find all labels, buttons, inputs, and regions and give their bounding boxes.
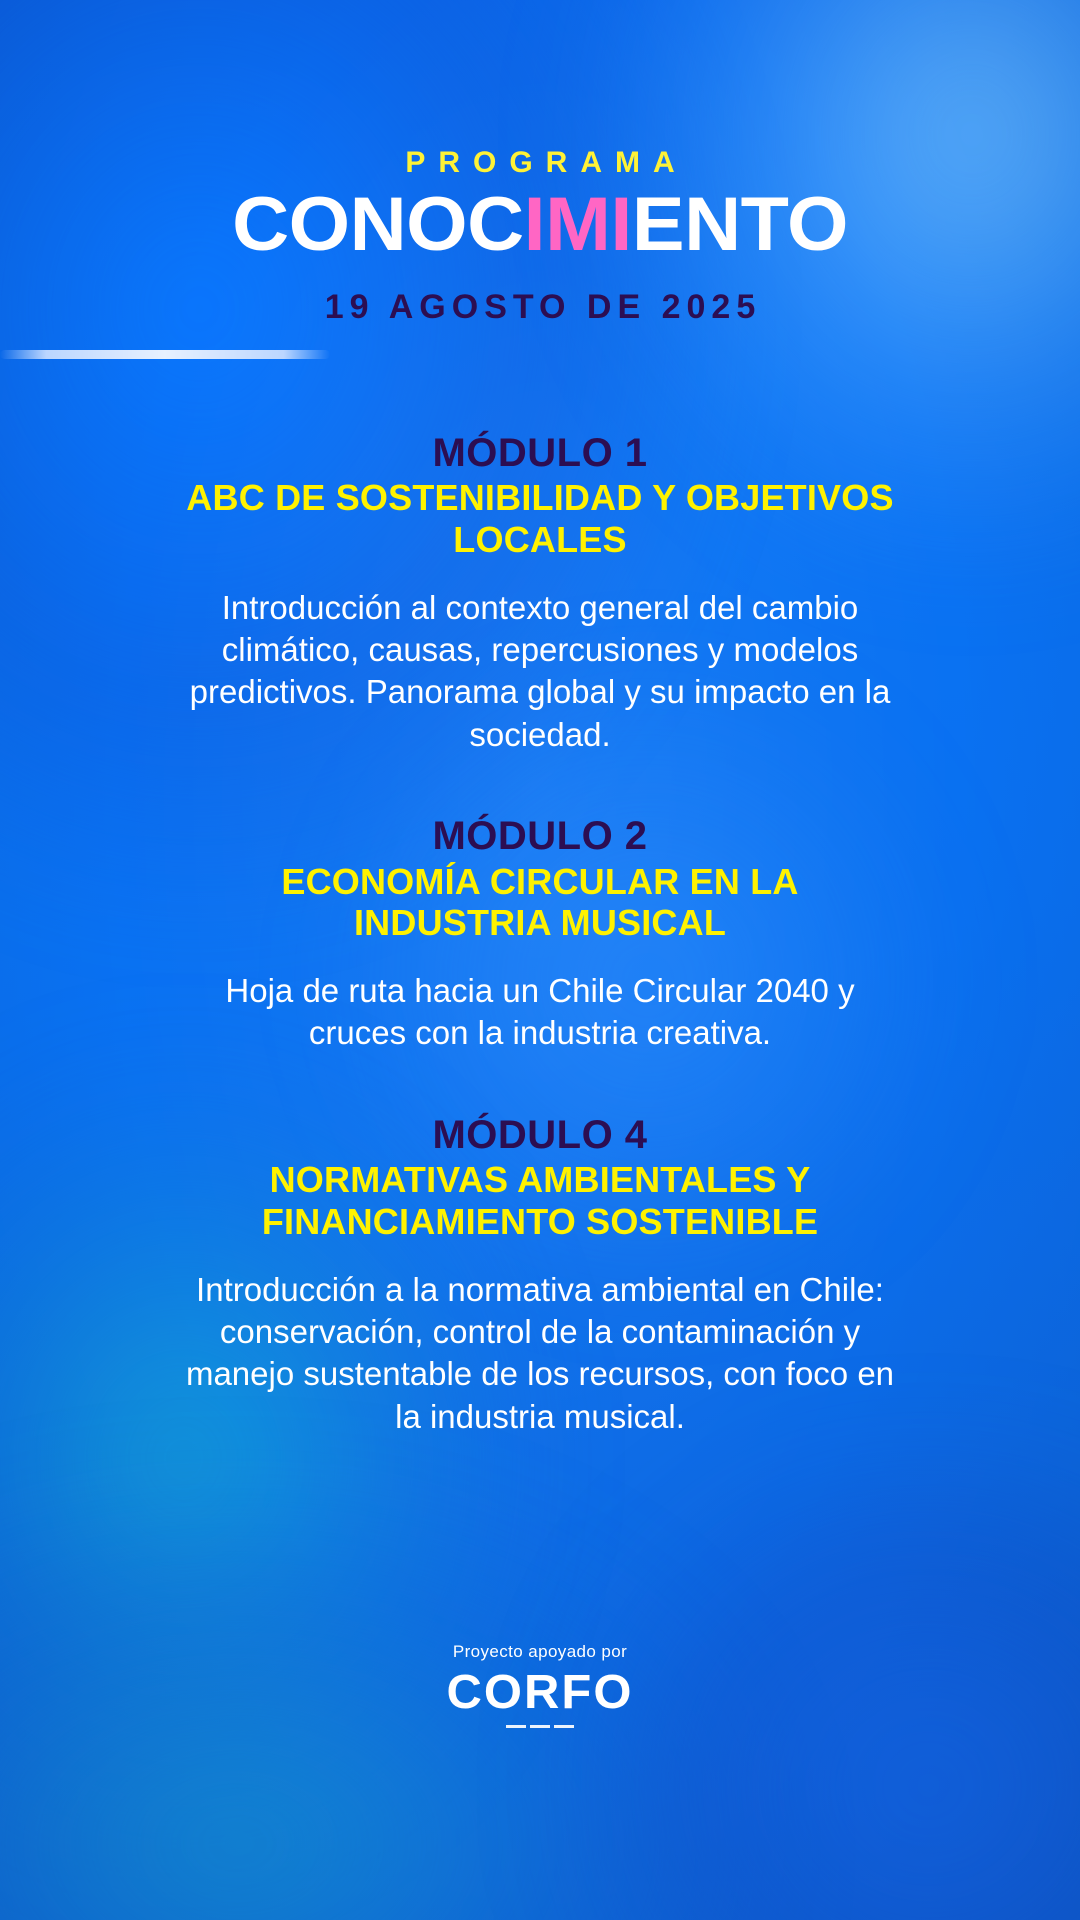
sponsor-note: Proyecto apoyado por bbox=[0, 1643, 1080, 1660]
event-date: 19 AGOSTO DE 2025 bbox=[0, 290, 1080, 324]
wordmark-segment-1: CONOC bbox=[232, 182, 524, 267]
module-title: ECONOMÍA CIRCULAR EN LA INDUSTRIA MUSICA… bbox=[160, 861, 920, 945]
poster-canvas: PROGRAMA CONOCIMIENTO 19 AGOSTO DE 2025 … bbox=[0, 0, 1080, 1920]
wordmark-segment-3: ENTO bbox=[632, 182, 848, 267]
program-kicker: PROGRAMA bbox=[0, 148, 1080, 178]
header-divider bbox=[0, 350, 330, 359]
module-item: MÓDULO 1 ABC DE SOSTENIBILIDAD Y OBJETIV… bbox=[160, 431, 920, 756]
module-description: Introducción a la normativa ambiental en… bbox=[160, 1269, 920, 1438]
poster-content: PROGRAMA CONOCIMIENTO 19 AGOSTO DE 2025 … bbox=[0, 0, 1080, 1920]
modules-list: MÓDULO 1 ABC DE SOSTENIBILIDAD Y OBJETIV… bbox=[0, 431, 1080, 1438]
module-description: Hoja de ruta hacia un Chile Circular 204… bbox=[160, 970, 920, 1054]
module-title: NORMATIVAS AMBIENTALES Y FINANCIAMIENTO … bbox=[160, 1159, 920, 1243]
module-title: ABC DE SOSTENIBILIDAD Y OBJETIVOS LOCALE… bbox=[160, 477, 920, 561]
poster-footer: Proyecto apoyado por CORFO bbox=[0, 1643, 1080, 1732]
corfo-logo: CORFO bbox=[0, 1669, 1080, 1717]
corfo-underline-icon bbox=[506, 1725, 574, 1732]
module-description: Introducción al contexto general del cam… bbox=[160, 587, 920, 756]
module-label: MÓDULO 1 bbox=[160, 431, 920, 476]
module-item: MÓDULO 4 NORMATIVAS AMBIENTALES Y FINANC… bbox=[160, 1113, 920, 1438]
module-label: MÓDULO 2 bbox=[160, 814, 920, 859]
module-item: MÓDULO 2 ECONOMÍA CIRCULAR EN LA INDUSTR… bbox=[160, 814, 920, 1055]
module-label: MÓDULO 4 bbox=[160, 1113, 920, 1158]
wordmark-segment-2: IMI bbox=[524, 182, 632, 267]
program-wordmark: CONOCIMIENTO bbox=[0, 186, 1080, 264]
poster-header: PROGRAMA CONOCIMIENTO 19 AGOSTO DE 2025 bbox=[0, 148, 1080, 359]
